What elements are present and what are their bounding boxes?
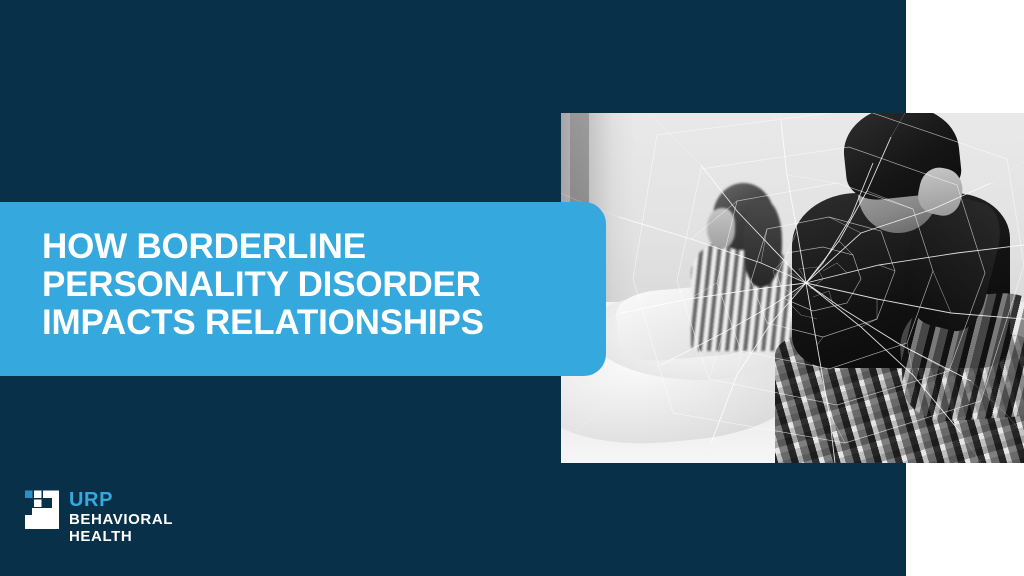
page-title: How Borderline Personality Disorder Impa… <box>42 228 582 342</box>
brand-logo[interactable]: URP BEHAVIORAL HEALTH <box>22 489 173 545</box>
hero-photo <box>561 113 1024 463</box>
hero-photo-scene <box>561 113 1024 463</box>
photo-person-man <box>769 113 1024 463</box>
photo-woman-face <box>707 208 736 248</box>
logo-line-health: HEALTH <box>69 528 173 545</box>
logo-wordmark: URP BEHAVIORAL HEALTH <box>69 489 173 545</box>
banner-canvas: How Borderline Personality Disorder Impa… <box>0 0 1024 576</box>
urp-cross-square-mark <box>22 489 60 531</box>
logo-line-behavioral: BEHAVIORAL <box>69 511 173 528</box>
logo-line-urp: URP <box>69 490 173 511</box>
